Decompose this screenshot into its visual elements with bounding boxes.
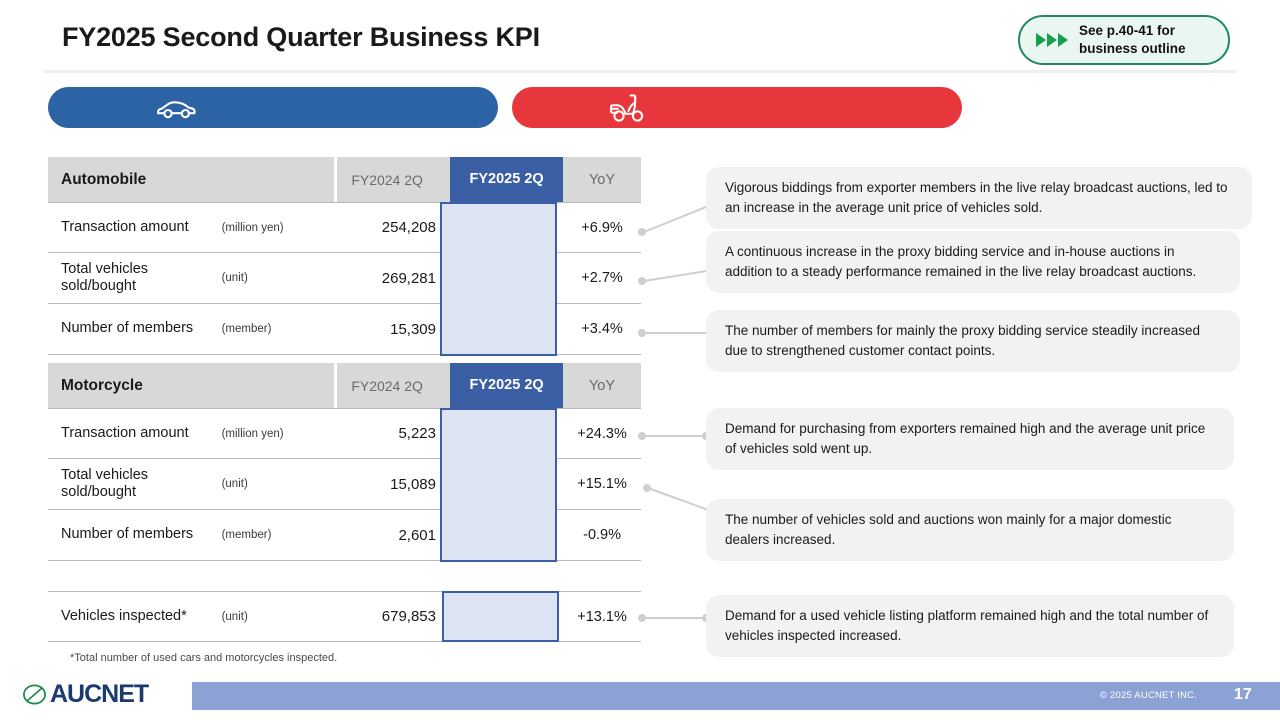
row-yoy-value: +6.9% [563,220,641,236]
vehicles-inspected-table: Vehicles inspected* (unit) 679,853 768,6… [48,591,641,642]
row-current-value: 2,577 [450,527,563,544]
callout-transaction-amount-motorcycle: Demand for purchasing from exporters rem… [706,408,1234,470]
callout-vehicles-inspected: Demand for a used vehicle listing platfo… [706,595,1234,657]
col-header-current: FY2025 2Q [450,157,563,202]
aucnet-logo-text: AUCNET [50,680,148,709]
motorcycle-table: Motorcycle FY2024 2Q FY2025 2Q YoY Trans… [48,363,641,561]
col-header-prev: FY2024 2Q [324,172,450,188]
copyright-text: © 2025 AUCNET INC. [1100,690,1197,701]
row-yoy-value: +13.1% [563,609,641,625]
table-footnote: *Total number of used cars and motorcycl… [70,652,337,664]
row-current-value: 768,645 [450,608,563,625]
page-title: FY2025 Second Quarter Business KPI [62,22,540,53]
table-row: Number of members (member) 15,309 15,824… [48,304,641,355]
callout-total-vehicles-automobile: A continuous increase in the proxy biddi… [706,231,1240,293]
col-header-yoy: YoY [563,378,641,394]
table-row: Total vehicles sold/bought (unit) 269,28… [48,253,641,304]
page-number: 17 [1234,686,1252,704]
row-yoy-value: -0.9% [563,527,641,543]
connector-line [644,617,706,619]
motorcycle-business-label: Motorcycle Business [163,0,318,17]
row-yoy-value: +2.7% [563,270,641,286]
table-row: Total vehicles sold/bought (unit) 15,089… [48,459,641,510]
motorcycle-table-header: Motorcycle FY2024 2Q FY2025 2Q YoY [48,363,641,408]
row-label: Total vehicles sold/bought [48,467,222,501]
row-current-value: 6,493 [450,425,563,442]
callout-members-automobile: The number of members for mainly the pro… [706,310,1240,372]
row-prev-value: 15,309 [324,321,451,338]
callout-transaction-amount-automobile: Vigorous biddings from exporter members … [706,167,1252,229]
row-unit: (unit) [222,611,324,623]
table-row: Number of members (member) 2,601 2,577 -… [48,510,641,561]
row-prev-value: 5,223 [324,425,451,442]
aucnet-logo-mark [22,682,47,707]
row-label: Number of members [48,320,222,337]
row-unit: (unit) [222,478,324,490]
automobile-section-title: Automobile [48,171,222,189]
reference-badge-text: See p.40-41 for business outline [1079,22,1186,58]
row-label: Vehicles inspected* [48,608,222,625]
connector-line [644,435,706,437]
row-current-value: 276,647 [450,270,563,287]
slide-root: FY2025 Second Quarter Business KPI See p… [0,0,1280,720]
row-label: Number of members [48,526,222,543]
automobile-business-button[interactable] [48,87,498,128]
automobile-table-header: Automobile FY2024 2Q FY2025 2Q YoY [48,157,641,202]
callout-total-vehicles-motorcycle: The number of vehicles sold and auctions… [706,499,1234,561]
aucnet-logo: AUCNET [22,680,148,709]
row-current-value: 15,824 [450,321,563,338]
row-label: Total vehicles sold/bought [48,261,222,295]
row-prev-value: 269,281 [324,270,451,287]
connector-line [644,269,713,282]
table-row: Transaction amount (million yen) 254,208… [48,202,641,253]
row-unit: (million yen) [222,428,324,440]
row-unit: (million yen) [222,222,324,234]
motorcycle-business-button[interactable] [512,87,962,128]
row-label: Transaction amount [48,219,222,236]
row-current-value: 271,767 [450,219,563,236]
row-yoy-value: +15.1% [563,476,641,492]
row-unit: (member) [222,323,324,335]
row-prev-value: 679,853 [324,608,451,625]
table-row: Vehicles inspected* (unit) 679,853 768,6… [48,591,641,642]
motorcycle-section-title: Motorcycle [48,377,222,395]
triple-play-triangles-icon [1036,33,1068,47]
title-divider [44,70,1236,73]
col-header-prev: FY2024 2Q [324,378,450,394]
row-prev-value: 15,089 [324,476,451,493]
row-prev-value: 2,601 [324,527,451,544]
car-icon [155,97,197,121]
automobile-business-label: Automobile Business [0,0,158,17]
connector-line [644,332,710,334]
connector-line [644,203,714,233]
row-prev-value: 254,208 [324,219,451,236]
col-header-current: FY2025 2Q [450,363,563,408]
col-header-yoy: YoY [563,172,641,188]
row-yoy-value: +3.4% [563,321,641,337]
row-unit: (member) [222,529,324,541]
row-yoy-value: +24.3% [563,426,641,442]
row-current-value: 17,374 [450,476,563,493]
automobile-table: Automobile FY2024 2Q FY2025 2Q YoY Trans… [48,157,641,355]
row-label: Transaction amount [48,425,222,442]
scooter-icon [608,92,648,126]
connector-line [648,487,713,512]
reference-badge[interactable]: See p.40-41 for business outline [1018,15,1230,65]
table-row: Transaction amount (million yen) 5,223 6… [48,408,641,459]
reference-badge-line1: See p.40-41 for [1079,22,1186,40]
reference-badge-line2: business outline [1079,40,1186,58]
row-unit: (unit) [222,272,324,284]
